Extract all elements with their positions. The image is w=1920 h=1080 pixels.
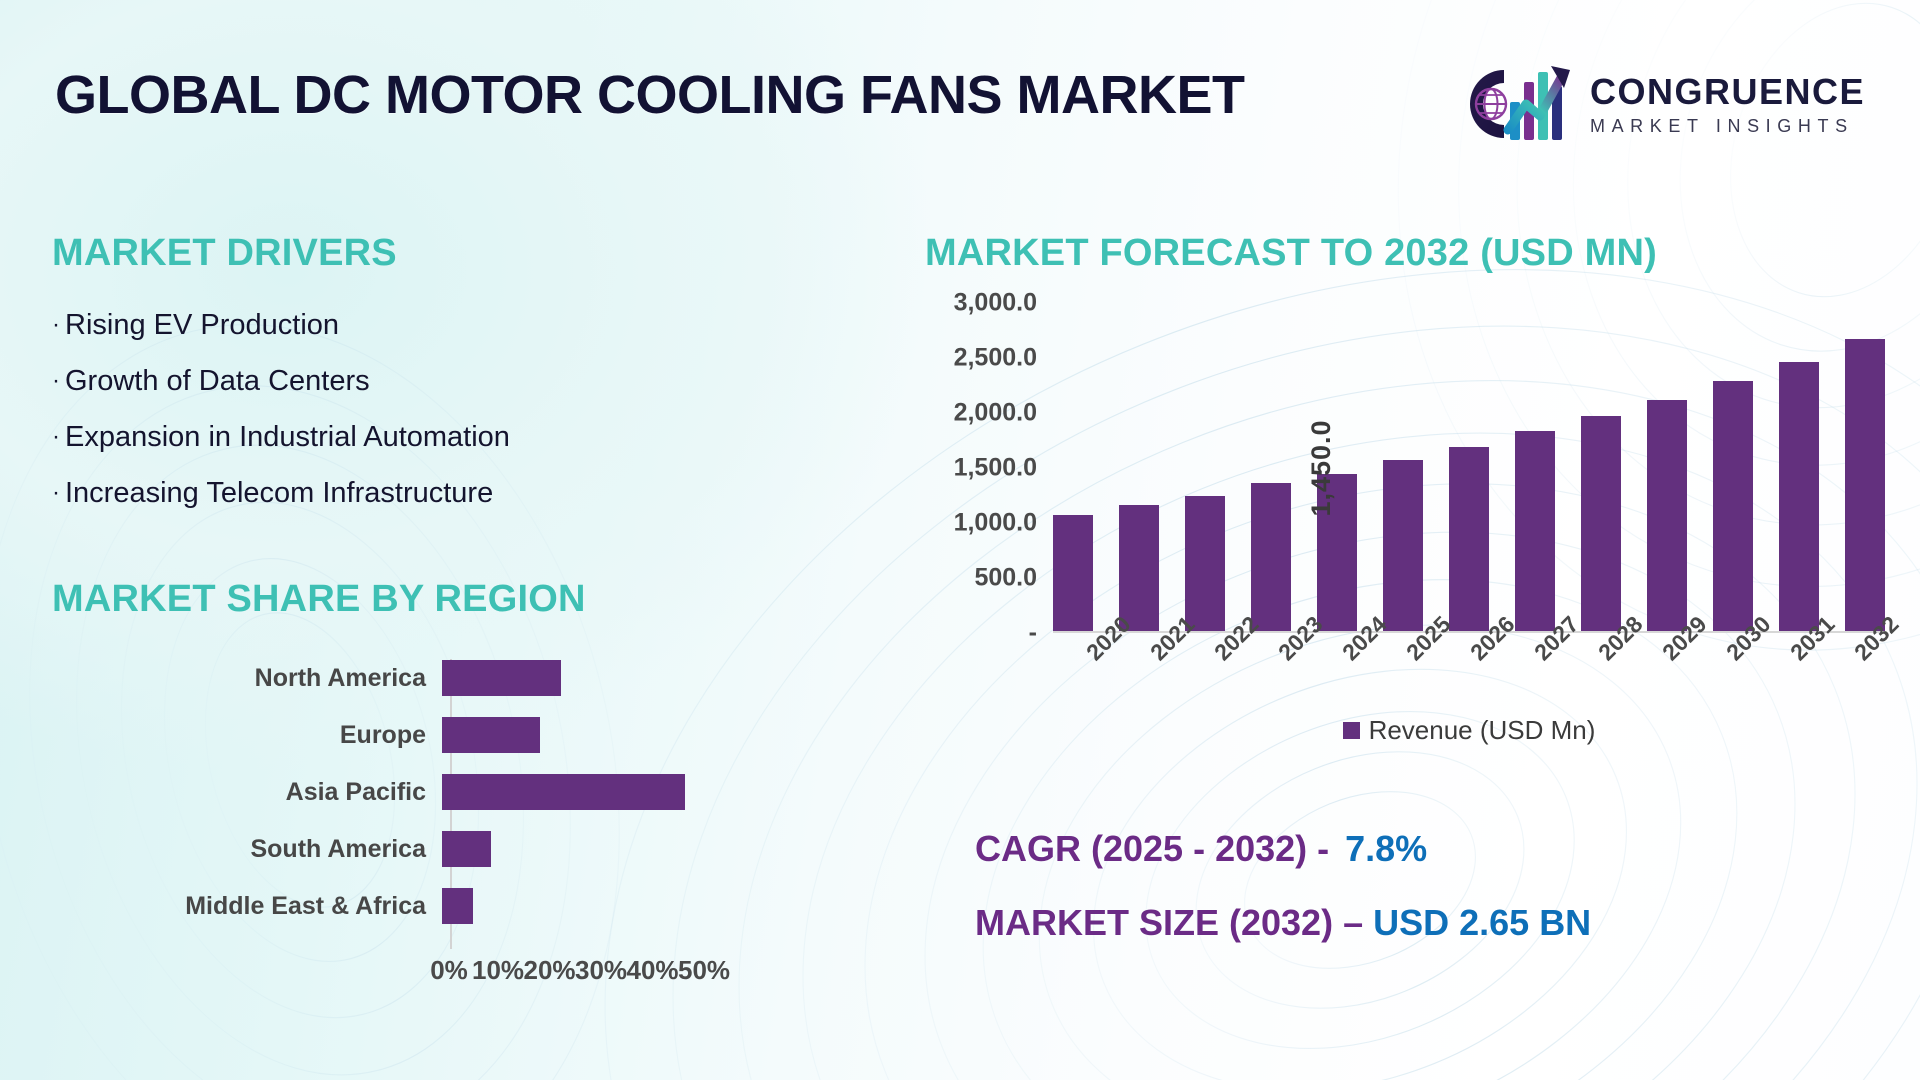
page-title: GLOBAL DC MOTOR COOLING FANS MARKET (55, 64, 1244, 126)
chart-bar-group (1779, 303, 1819, 633)
chart-bar-group (1251, 303, 1291, 633)
chart-bar-group (1581, 303, 1621, 633)
market-forecast-section: MARKET FORECAST TO 2032 (USD MN) -500.01… (925, 232, 1885, 703)
market-share-section: MARKET SHARE BY REGION North AmericaEuro… (52, 578, 842, 985)
market-size-stat: MARKET SIZE (2032) – USD 2.65 BN (975, 902, 1591, 944)
chart-bar-group (1713, 303, 1753, 633)
bullet-icon: · (52, 479, 60, 506)
market-forecast-heading: MARKET FORECAST TO 2032 (USD MN) (925, 232, 1885, 275)
chart-legend: Revenue (USD Mn) (1053, 715, 1885, 746)
y-tick-label: 3,000.0 (954, 289, 1037, 318)
y-tick-label: 2,500.0 (954, 344, 1037, 373)
cagr-label: CAGR (2025 - 2032) - (975, 828, 1329, 869)
list-item: ·Increasing Telecom Infrastructure (52, 479, 510, 508)
list-item: ·Expansion in Industrial Automation (52, 423, 510, 452)
chart-bar-row: Middle East & Africa (52, 887, 473, 925)
chart-bar (1251, 483, 1291, 633)
bullet-icon: · (52, 311, 60, 338)
bullet-icon: · (52, 367, 60, 394)
driver-label: Expansion in Industrial Automation (65, 421, 510, 453)
chart-bar (1119, 505, 1159, 633)
chart-bar (442, 831, 491, 867)
cagr-stat: CAGR (2025 - 2032) -7.8% (975, 828, 1591, 870)
market-forecast-bar-chart: -500.01,000.01,500.02,000.02,500.03,000.… (925, 303, 1885, 703)
chart-bar (1449, 447, 1489, 633)
chart-bar (1845, 339, 1885, 633)
y-tick-label: 500.0 (974, 564, 1037, 593)
bullet-icon: · (52, 423, 60, 450)
chart-bar (1713, 381, 1753, 633)
x-tick-label: 30% (575, 955, 627, 986)
chart-bar (442, 660, 561, 696)
x-axis-tick-labels: 0%10%20%30%40%50% (426, 955, 730, 986)
logo-name: CONGRUENCE (1590, 74, 1865, 110)
chart-bar (1581, 416, 1621, 633)
chart-bar-group (1845, 303, 1885, 633)
x-tick-label: 50% (678, 955, 730, 986)
header: GLOBAL DC MOTOR COOLING FANS MARKET (55, 62, 1865, 154)
chart-bar (442, 717, 540, 753)
x-axis-year-labels: 2020202120222023202420252026202720282029… (1053, 643, 1885, 705)
legend-label: Revenue (USD Mn) (1369, 715, 1596, 746)
region-label: South America (52, 835, 442, 864)
x-tick-label: 10% (472, 955, 524, 986)
region-label: Europe (52, 721, 442, 750)
region-label: Middle East & Africa (52, 892, 442, 921)
brand-logo: CONGRUENCE MARKET INSIGHTS (1458, 58, 1865, 150)
y-tick-label: 2,000.0 (954, 399, 1037, 428)
market-share-heading: MARKET SHARE BY REGION (52, 578, 842, 621)
y-tick-label: 1,500.0 (954, 454, 1037, 483)
market-drivers-heading: MARKET DRIVERS (52, 232, 510, 275)
chart-bar-group (1119, 303, 1159, 633)
y-tick-label: - (1029, 619, 1037, 648)
chart-bar-group: 1,450.0 (1317, 303, 1357, 633)
driver-label: Growth of Data Centers (65, 365, 370, 397)
chart-bar (1779, 362, 1819, 633)
chart-bar (1515, 431, 1555, 633)
chart-bar-row: Europe (52, 716, 540, 754)
x-tick-label: 40% (627, 955, 679, 986)
chart-bar (1053, 515, 1093, 633)
region-label: North America (52, 664, 442, 693)
chart-bar-row: North America (52, 659, 561, 697)
chart-bar (442, 888, 473, 924)
cm-globe-growth-logo-icon (1458, 58, 1576, 150)
driver-label: Rising EV Production (65, 309, 339, 341)
market-share-bar-chart: North AmericaEuropeAsia PacificSouth Ame… (52, 655, 842, 985)
driver-label: Increasing Telecom Infrastructure (65, 477, 493, 509)
y-tick-label: 1,000.0 (954, 509, 1037, 538)
chart-bar (442, 774, 685, 810)
chart-bar-row: Asia Pacific (52, 773, 685, 811)
chart-bar-group (1515, 303, 1555, 633)
market-drivers-section: MARKET DRIVERS ·Rising EV Production ·Gr… (52, 232, 510, 535)
chart-bar-group (1053, 303, 1093, 633)
market-size-value: USD 2.65 BN (1373, 902, 1591, 943)
chart-bar-row: South America (52, 830, 491, 868)
x-tick-label: 0% (426, 955, 472, 986)
logo-tagline: MARKET INSIGHTS (1590, 117, 1865, 135)
chart-bar (1185, 496, 1225, 634)
market-drivers-list: ·Rising EV Production ·Growth of Data Ce… (52, 311, 510, 508)
chart-bar-group (1383, 303, 1423, 633)
x-tick-label: 20% (524, 955, 576, 986)
legend-swatch-icon (1343, 722, 1360, 739)
bar-value-label: 1,450.0 (1306, 419, 1337, 516)
chart-bar-group (1449, 303, 1489, 633)
key-stats: CAGR (2025 - 2032) -7.8% MARKET SIZE (20… (975, 828, 1591, 976)
chart-plot-area: 1,450.0 (1053, 303, 1885, 633)
chart-bar (1383, 460, 1423, 633)
list-item: ·Rising EV Production (52, 311, 510, 340)
region-label: Asia Pacific (52, 778, 442, 807)
chart-bar (1647, 400, 1687, 633)
market-size-label: MARKET SIZE (2032) – (975, 902, 1363, 943)
list-item: ·Growth of Data Centers (52, 367, 510, 396)
cagr-value: 7.8% (1345, 828, 1427, 869)
chart-bar-group (1185, 303, 1225, 633)
y-axis-tick-labels: -500.01,000.01,500.02,000.02,500.03,000.… (925, 303, 1037, 633)
chart-bar-group (1647, 303, 1687, 633)
